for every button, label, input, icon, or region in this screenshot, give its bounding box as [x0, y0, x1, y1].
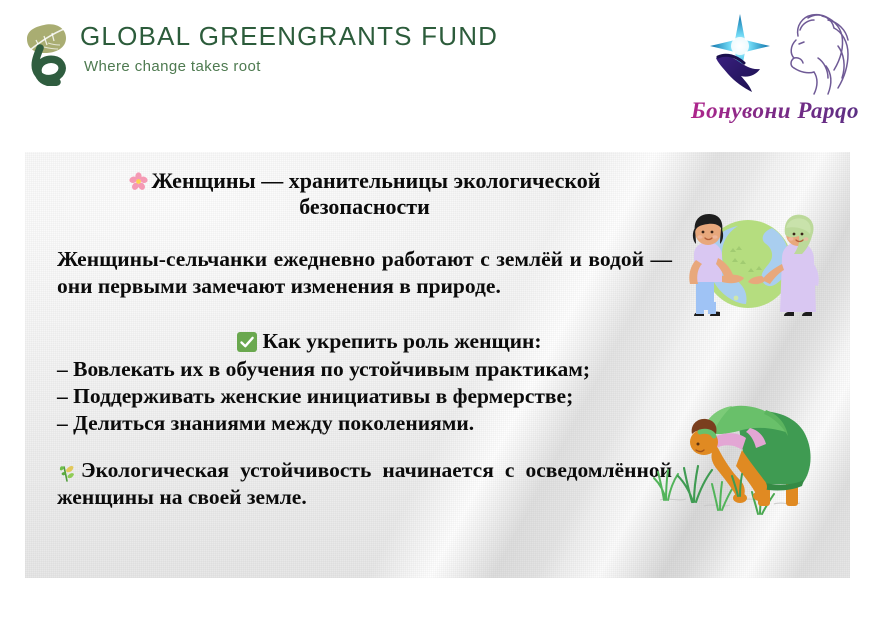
global-greengrants-fund-text: GLOBAL GREENGRANTS FUND Where change tak…	[80, 22, 460, 75]
woman-planting-rice-illustration	[646, 380, 838, 520]
text-column: Женщины — хранительницы экологической бе…	[57, 168, 672, 512]
sprout-icon	[57, 460, 77, 482]
cherry-blossom-icon	[129, 171, 148, 190]
bonuvoni-farda-logo: Бонувони Рарqо	[690, 6, 860, 142]
sub-heading: Как укрепить роль женщин:	[57, 328, 672, 355]
leaf-over-g-logomark-icon	[14, 20, 76, 86]
content-panel: Женщины — хранительницы экологической бе…	[25, 152, 850, 578]
two-women-holding-globe-illustration	[652, 198, 842, 328]
closing-paragraph: Экологическая устойчивость начинается с …	[57, 457, 672, 511]
ggf-title: GLOBAL GREENGRANTS FUND	[80, 22, 460, 51]
slide-heading: Женщины — хранительницы экологической бе…	[57, 168, 672, 220]
bonuvoni-farda-wordmark: Бонувони Рарqо	[690, 98, 860, 124]
slide-root: GLOBAL GREENGRANTS FUND Where change tak…	[0, 0, 874, 620]
ggf-tagline: Where change takes root	[84, 58, 460, 75]
paragraph-1: Женщины-сельчанки ежедневно работают с з…	[57, 246, 672, 300]
sub-heading-text: Как укрепить роль женщин:	[262, 329, 541, 353]
slide-header: GLOBAL GREENGRANTS FUND Where change tak…	[0, 0, 874, 148]
bullet-item-1: – Вовлекать их в обучения по устойчивым …	[57, 356, 672, 383]
spacer	[57, 300, 672, 328]
green-check-icon	[237, 332, 257, 352]
closing-paragraph-text: Экологическая устойчивость начинается с …	[57, 458, 672, 509]
bullet-item-3: – Делиться знаниями между поколениями.	[57, 410, 672, 437]
slide-heading-text: Женщины — хранительницы экологической бе…	[152, 168, 601, 219]
spacer	[57, 437, 672, 457]
star-hand-woman-silhouette-emblem-icon	[690, 6, 860, 102]
bullet-item-2: – Поддерживать женские инициативы в ферм…	[57, 383, 672, 410]
global-greengrants-fund-logo: GLOBAL GREENGRANTS FUND Where change tak…	[14, 20, 454, 88]
